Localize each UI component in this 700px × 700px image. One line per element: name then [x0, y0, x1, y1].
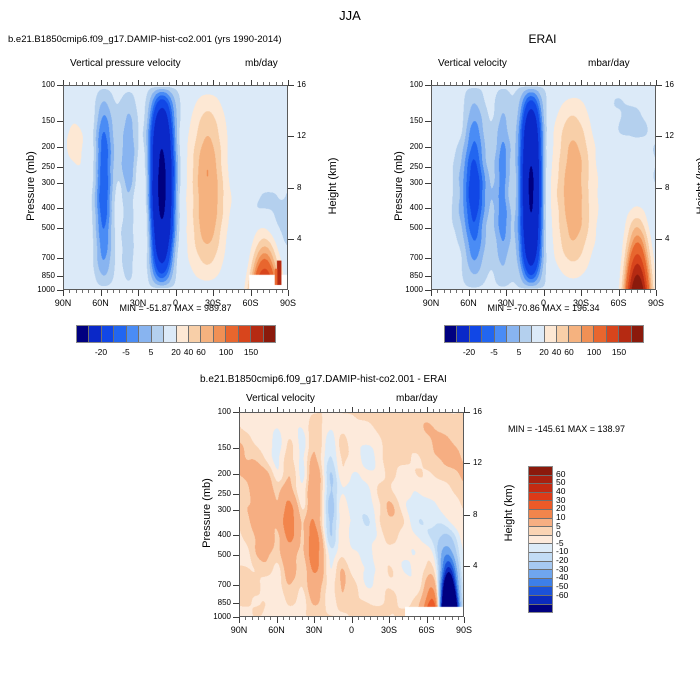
colorbar-swatch	[529, 605, 552, 613]
diff-colorbar[interactable]	[528, 466, 553, 613]
colorbar-tick-label: 150	[601, 347, 637, 357]
diff-contour-field	[240, 413, 463, 616]
colorbar-swatch	[529, 596, 552, 605]
colorbar-swatch	[529, 553, 552, 562]
diff-colorbar-labels: 60504030201050-5-10-20-30-40-50-60	[556, 466, 596, 613]
colorbar-swatch	[529, 562, 552, 571]
diff-units-label: mbar/day	[396, 393, 438, 404]
colorbar-swatch	[529, 587, 552, 596]
diff-yaxis-title: Pressure (mb)	[201, 468, 213, 558]
colorbar-swatch	[529, 579, 552, 588]
colorbar-swatch	[529, 493, 552, 502]
diff-cross-section-plot[interactable]	[239, 412, 464, 617]
colorbar-swatch	[529, 484, 552, 493]
colorbar-swatch	[529, 467, 552, 476]
colorbar-swatch	[529, 570, 552, 579]
colorbar-swatch	[529, 519, 552, 528]
colorbar-swatch	[529, 527, 552, 536]
colorbar-swatch	[529, 510, 552, 519]
colorbar-swatch	[529, 536, 552, 545]
colorbar-swatch	[529, 476, 552, 485]
colorbar-swatch	[529, 501, 552, 510]
diff-panel-title: b.e21.B1850cmip6.f09_g17.DAMIP-hist-co2.…	[200, 374, 447, 385]
colorbar-tick-label: -60	[556, 590, 568, 600]
diff-minmax-label: MIN = -145.61 MAX = 138.97	[508, 424, 625, 434]
diff-y2axis-title: Height (km)	[503, 468, 515, 558]
diff-field-label: Vertical velocity	[246, 393, 315, 404]
colorbar-swatch	[529, 544, 552, 553]
